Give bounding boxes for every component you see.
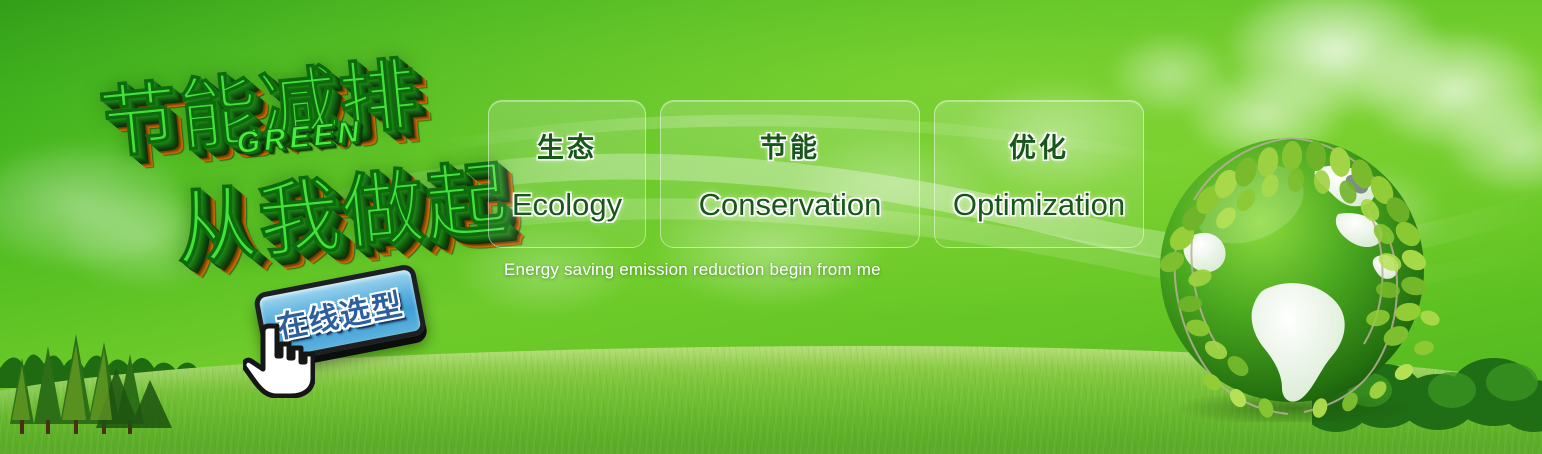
feature-card-cn-label: 节能 bbox=[760, 126, 820, 165]
hero-title-3d: 节能减排 GREEN 从我做起 bbox=[85, 16, 496, 292]
cloud-icon bbox=[1190, 0, 1480, 140]
globe-icon bbox=[1142, 122, 1442, 422]
feature-cards: 生态 Ecology 节能 Conservation 优化 Optimizati… bbox=[488, 100, 1144, 248]
feature-card-cn-label: 优化 bbox=[1009, 126, 1069, 165]
pine-trees-group bbox=[0, 324, 200, 434]
feature-card-optimization[interactable]: 优化 Optimization bbox=[934, 100, 1144, 248]
tagline: Energy saving emission reduction begin f… bbox=[504, 260, 881, 280]
online-selection-button-label: 在线选型 bbox=[273, 279, 407, 347]
feature-card-en-label: Optimization bbox=[953, 187, 1125, 223]
feature-card-en-label: Ecology bbox=[512, 187, 622, 223]
feature-card-conservation[interactable]: 节能 Conservation bbox=[660, 100, 920, 248]
feature-card-cn-label: 生态 bbox=[537, 126, 597, 165]
green-energy-banner: 节能减排 GREEN 从我做起 在线选型 生态 Ecology 节能 Conse… bbox=[0, 0, 1542, 454]
leaf-globe bbox=[1142, 122, 1442, 422]
feature-card-en-label: Conservation bbox=[699, 187, 882, 223]
feature-card-ecology[interactable]: 生态 Ecology bbox=[488, 100, 646, 248]
